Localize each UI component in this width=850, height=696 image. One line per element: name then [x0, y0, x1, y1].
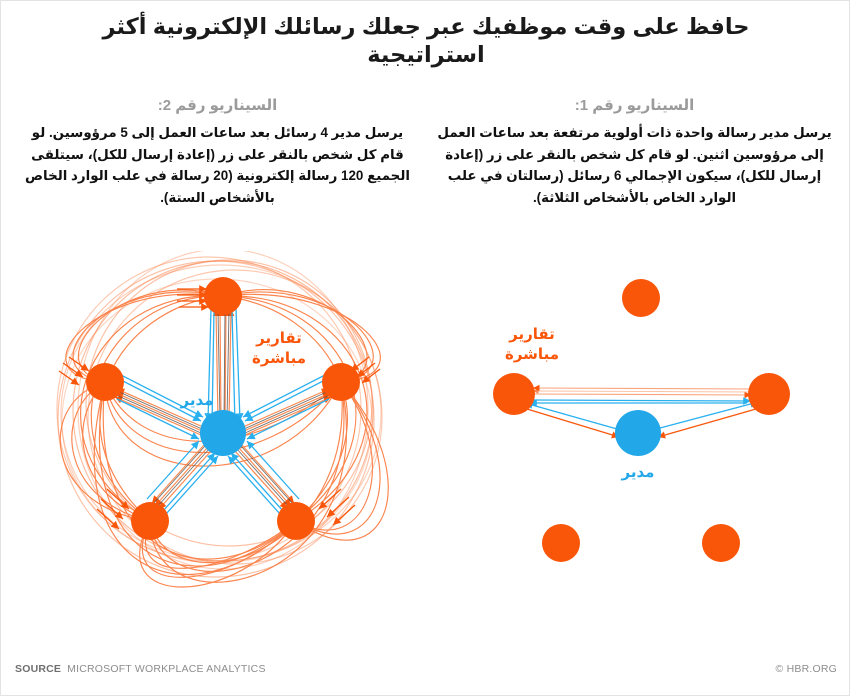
report-node-bottom-right[interactable] [277, 502, 315, 540]
scenario-2-diagram: تقارير مباشرة مدير [11, 251, 431, 641]
scenario-2-column: السيناريو رقم 2: يرسل مدير 4 رسائل بعد س… [1, 97, 426, 247]
scenario-2-network-svg: تقارير مباشرة مدير [11, 251, 431, 641]
reports-label-line2: مباشرة [252, 350, 306, 367]
manager-label: مدير [180, 392, 214, 409]
report-node-left[interactable] [86, 363, 124, 401]
footer: SOURCEMICROSOFT WORKPLACE ANALYTICS © HB… [1, 663, 850, 681]
scenario-1-body: يرسل مدير رسالة واحدة ذات أولوية مرتفعة … [436, 122, 833, 209]
report-node-right[interactable] [748, 373, 790, 415]
decorative-node-top [622, 279, 660, 317]
scenario-1-column: السيناريو رقم 1: يرسل مدير رسالة واحدة ذ… [426, 97, 850, 247]
decorative-node-bottom-right [702, 524, 740, 562]
infographic-page: حافظ على وقت موظفيك عبر جعلك رسائلك الإل… [0, 0, 850, 696]
source-credit: SOURCEMICROSOFT WORKPLACE ANALYTICS [15, 663, 266, 675]
diagram-row: تقارير مباشرة مدير [1, 251, 850, 641]
scenario-1-network-svg: تقارير مباشرة مدير [441, 251, 841, 641]
manager-label: مدير [621, 464, 655, 481]
report-node-top[interactable] [204, 277, 242, 315]
source-label: SOURCE [15, 663, 61, 675]
source-value: MICROSOFT WORKPLACE ANALYTICS [67, 663, 266, 675]
scenario-1-diagram: تقارير مباشرة مدير [441, 251, 841, 641]
manager-node[interactable] [615, 410, 661, 456]
reports-label-line1: تقارير [255, 330, 302, 347]
manager-node[interactable] [200, 410, 246, 456]
copyright: © HBR.ORG [776, 663, 837, 675]
scenario-2-heading: السيناريو رقم 2: [19, 97, 416, 115]
reports-label-line1: تقارير [508, 326, 555, 343]
report-node-bottom-left[interactable] [131, 502, 169, 540]
report-node-right[interactable] [322, 363, 360, 401]
scenario-1-heading: السيناريو رقم 1: [436, 97, 833, 115]
reports-label-line2: مباشرة [505, 346, 559, 363]
page-title: حافظ على وقت موظفيك عبر جعلك رسائلك الإل… [1, 13, 850, 69]
decorative-node-bottom-left [542, 524, 580, 562]
scenario-text-row: السيناريو رقم 1: يرسل مدير رسالة واحدة ذ… [1, 97, 850, 247]
scenario-2-body: يرسل مدير 4 رسائل بعد ساعات العمل إلى 5 … [19, 122, 416, 209]
report-node-left[interactable] [493, 373, 535, 415]
